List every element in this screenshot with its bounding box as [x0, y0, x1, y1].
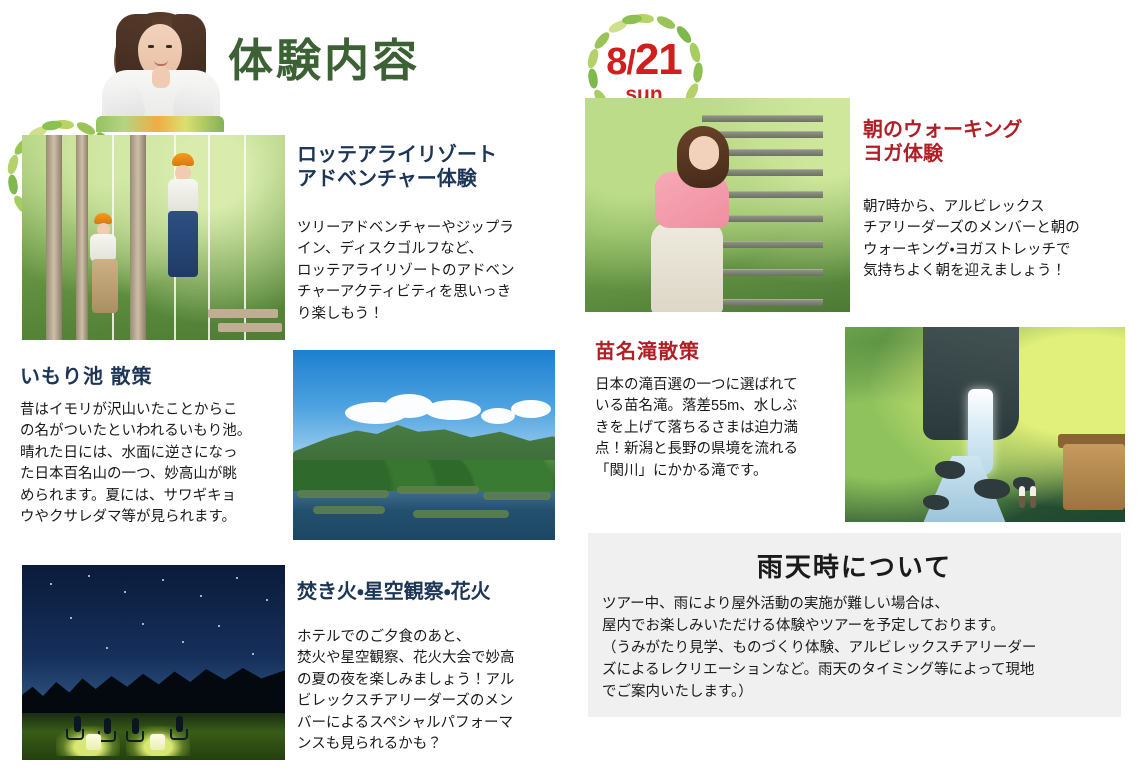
woman-face [689, 136, 719, 170]
portrait-eye-left [148, 45, 154, 48]
section-heading-naena: 苗名滝散策 [595, 340, 835, 364]
hiker [1030, 486, 1036, 508]
section-body-naena: 日本の滝百選の一つに選ばれて いる苗名滝。落差55m、水しぶ きを上げて落ちるさ… [595, 375, 841, 482]
section-heading-bonfire: 焚き火・星空観察・花火 [297, 580, 559, 604]
rain-notice-panel: 雨天時について ツアー中、雨により屋外活動の実施が難しい場合は、 屋内でお楽しみ… [588, 533, 1121, 717]
section-heading-yoga: 朝のウォーキング ヨガ体験 [863, 118, 1125, 167]
section-heading-imori: いもり池 散策 [20, 365, 282, 389]
rain-notice-body: ツアー中、雨により屋外活動の実施が難しい場合は、 屋内でお楽しみいただける体験や… [602, 593, 1111, 703]
smiling-woman-portrait [96, 0, 224, 132]
section-body-bonfire: ホテルでのご夕食のあと、 焚火や星空観察、花火大会で妙高 の夏の夜を楽しみましょ… [297, 627, 565, 756]
rope-bridge-plank [208, 309, 278, 318]
section-body-yoga: 朝7時から、アルビレックス チアリーダーズのメンバーと朝の ウォーキング・ヨガス… [863, 197, 1131, 283]
boulder [974, 479, 1010, 499]
naena-waterfall-photo [845, 327, 1125, 522]
wooden-post [76, 135, 88, 340]
page-title: 体験内容 [228, 38, 420, 83]
camper-person [104, 718, 111, 734]
lily-pads [413, 510, 509, 518]
tree-adventure-ropes-course-photo [22, 135, 285, 340]
brochure-page: 体験内容 8/20 sat [0, 0, 1141, 772]
boulder [923, 495, 949, 510]
lily-pads [297, 490, 389, 498]
wooden-post [130, 135, 146, 340]
rain-notice-title: 雨天時について [588, 547, 1121, 584]
rope-bridge-plank [218, 323, 282, 332]
camper-person [132, 718, 139, 734]
hiker [1019, 486, 1025, 508]
lily-pads [397, 486, 479, 494]
camper-person [74, 716, 81, 732]
portrait-eye-right [166, 45, 172, 48]
cloud [425, 400, 481, 420]
lily-pads [313, 506, 385, 514]
wooden-post [46, 135, 62, 340]
cloud [481, 408, 515, 424]
woman-stretching-on-stone-stairs-photo [585, 98, 850, 312]
section-heading-adventure: ロッテアライリゾート アドベンチャー体験 [297, 143, 552, 192]
wooden-shelter [1063, 444, 1125, 510]
woman-legs [651, 222, 723, 312]
imori-pond-mount-myoko-photo [293, 350, 555, 540]
lily-pads [483, 492, 551, 500]
section-body-imori: 昔はイモリが沢山いたことからこ の名がついたといわれるいもり池。 晴れた日には、… [20, 400, 288, 529]
badge-date-text: 8/21 [582, 38, 706, 82]
lantern [86, 734, 101, 750]
section-body-adventure: ツリーアドベンチャーやジップラ イン、ディスクゴルフなど、 ロッテアライリゾート… [297, 218, 555, 325]
cloud [511, 400, 551, 418]
lantern [150, 734, 165, 750]
portrait-hand [152, 66, 170, 88]
camper-person [176, 716, 183, 732]
bonfire-starry-sky-camp-photo [22, 565, 285, 760]
